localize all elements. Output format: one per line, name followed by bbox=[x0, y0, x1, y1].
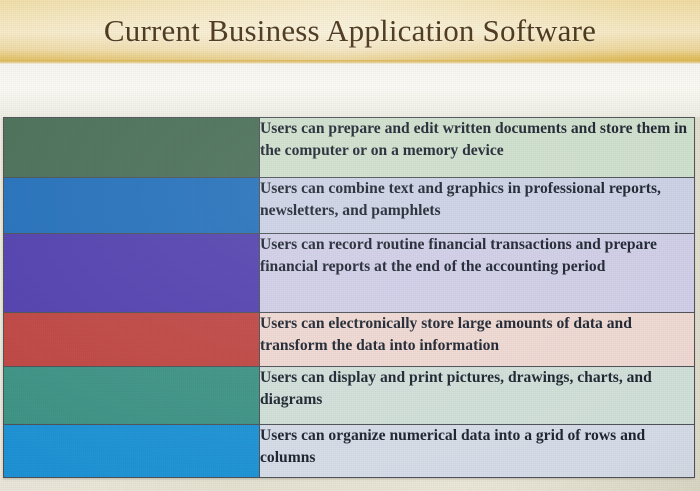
table-row: Users can combine text and graphics in p… bbox=[4, 178, 695, 234]
banner-underline bbox=[0, 60, 700, 64]
row-description: Users can organize numerical data into a… bbox=[260, 425, 694, 468]
page-title: Current Business Application Software bbox=[0, 0, 700, 62]
row-description: Users can display and print pictures, dr… bbox=[260, 367, 694, 410]
row-description-cell: Users can combine text and graphics in p… bbox=[260, 178, 695, 234]
table-row: Users can record routine financial trans… bbox=[4, 234, 695, 313]
title-banner: Current Business Application Software bbox=[0, 0, 700, 62]
row-description-cell: Users can electronically store large amo… bbox=[260, 313, 695, 367]
row-color-swatch bbox=[4, 313, 260, 367]
row-description: Users can record routine financial trans… bbox=[260, 234, 694, 277]
row-description-cell: Users can prepare and edit written docum… bbox=[260, 118, 695, 178]
row-description-cell: Users can organize numerical data into a… bbox=[260, 425, 695, 478]
table-row: Users can prepare and edit written docum… bbox=[4, 118, 695, 178]
software-table: Users can prepare and edit written docum… bbox=[3, 117, 694, 478]
row-color-swatch bbox=[4, 367, 260, 425]
row-description: Users can prepare and edit written docum… bbox=[260, 118, 694, 161]
row-color-swatch bbox=[4, 234, 260, 313]
table-row: Users can display and print pictures, dr… bbox=[4, 367, 695, 425]
row-color-swatch bbox=[4, 425, 260, 478]
row-description: Users can electronically store large amo… bbox=[260, 313, 694, 356]
row-description: Users can combine text and graphics in p… bbox=[260, 178, 694, 221]
row-description-cell: Users can display and print pictures, dr… bbox=[260, 367, 695, 425]
row-description-cell: Users can record routine financial trans… bbox=[260, 234, 695, 313]
row-color-swatch bbox=[4, 178, 260, 234]
table-row: Users can organize numerical data into a… bbox=[4, 425, 695, 478]
slide-canvas: Current Business Application Software Us… bbox=[0, 0, 700, 491]
table-row: Users can electronically store large amo… bbox=[4, 313, 695, 367]
row-color-swatch bbox=[4, 118, 260, 178]
banner-table-gap bbox=[0, 63, 700, 117]
